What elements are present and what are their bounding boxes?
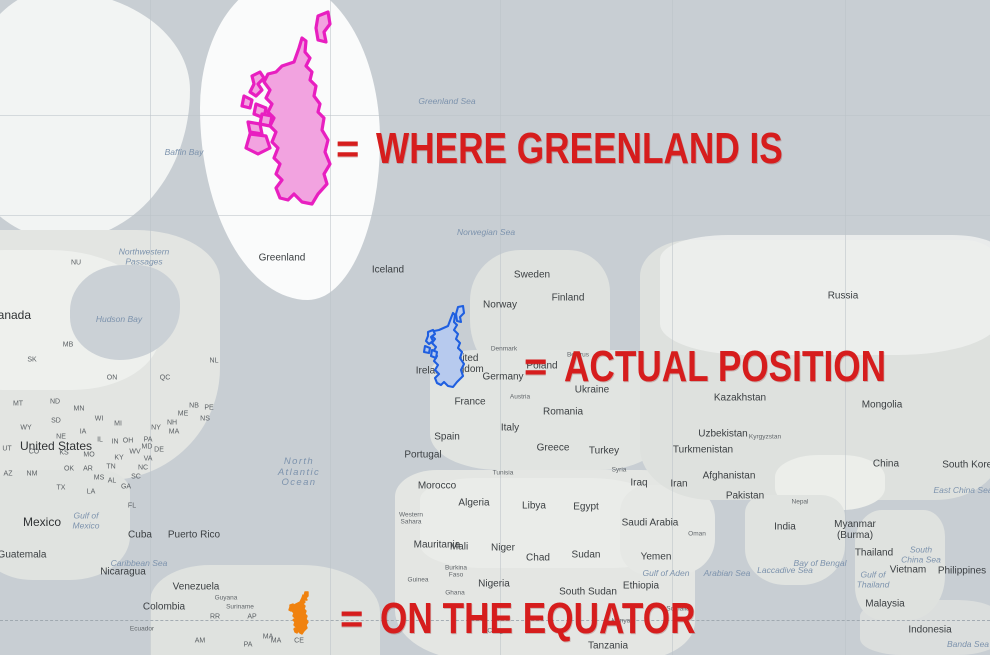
- graticule-line: [150, 0, 151, 655]
- landmass-central-america: [0, 470, 130, 580]
- landmass-indonesia: [860, 600, 990, 655]
- graticule-line: [845, 0, 846, 655]
- annotation-actual-position: = ACTUAL POSITION: [524, 342, 967, 392]
- landmass-siberia-snow: [660, 235, 990, 355]
- uk-overlay-at-greenland[interactable]: [232, 8, 362, 223]
- annotation-where-greenland-is: = WHERE GREENLAND IS: [336, 124, 885, 174]
- equals-sign-icon: =: [524, 355, 546, 380]
- uk-overlay-at-equator[interactable]: [288, 592, 314, 636]
- equals-sign-icon: =: [340, 607, 362, 632]
- graticule-line: [0, 215, 990, 216]
- graticule-line: [500, 0, 501, 655]
- equals-sign-icon: =: [336, 137, 358, 162]
- graticule-line: [0, 115, 990, 116]
- uk-overlay-actual-position[interactable]: [422, 306, 476, 392]
- annotation-on-the-equator: = ON THE EQUATOR: [340, 594, 775, 644]
- map-canvas: Greenland SeaNorwegian SeaBaffin BayHuds…: [0, 0, 990, 655]
- landmass-india: [745, 495, 845, 585]
- graticule-line: [672, 0, 673, 655]
- annotation-label: ACTUAL POSITION: [564, 342, 886, 392]
- annotation-label: WHERE GREENLAND IS: [376, 124, 783, 174]
- annotation-label: ON THE EQUATOR: [380, 594, 696, 644]
